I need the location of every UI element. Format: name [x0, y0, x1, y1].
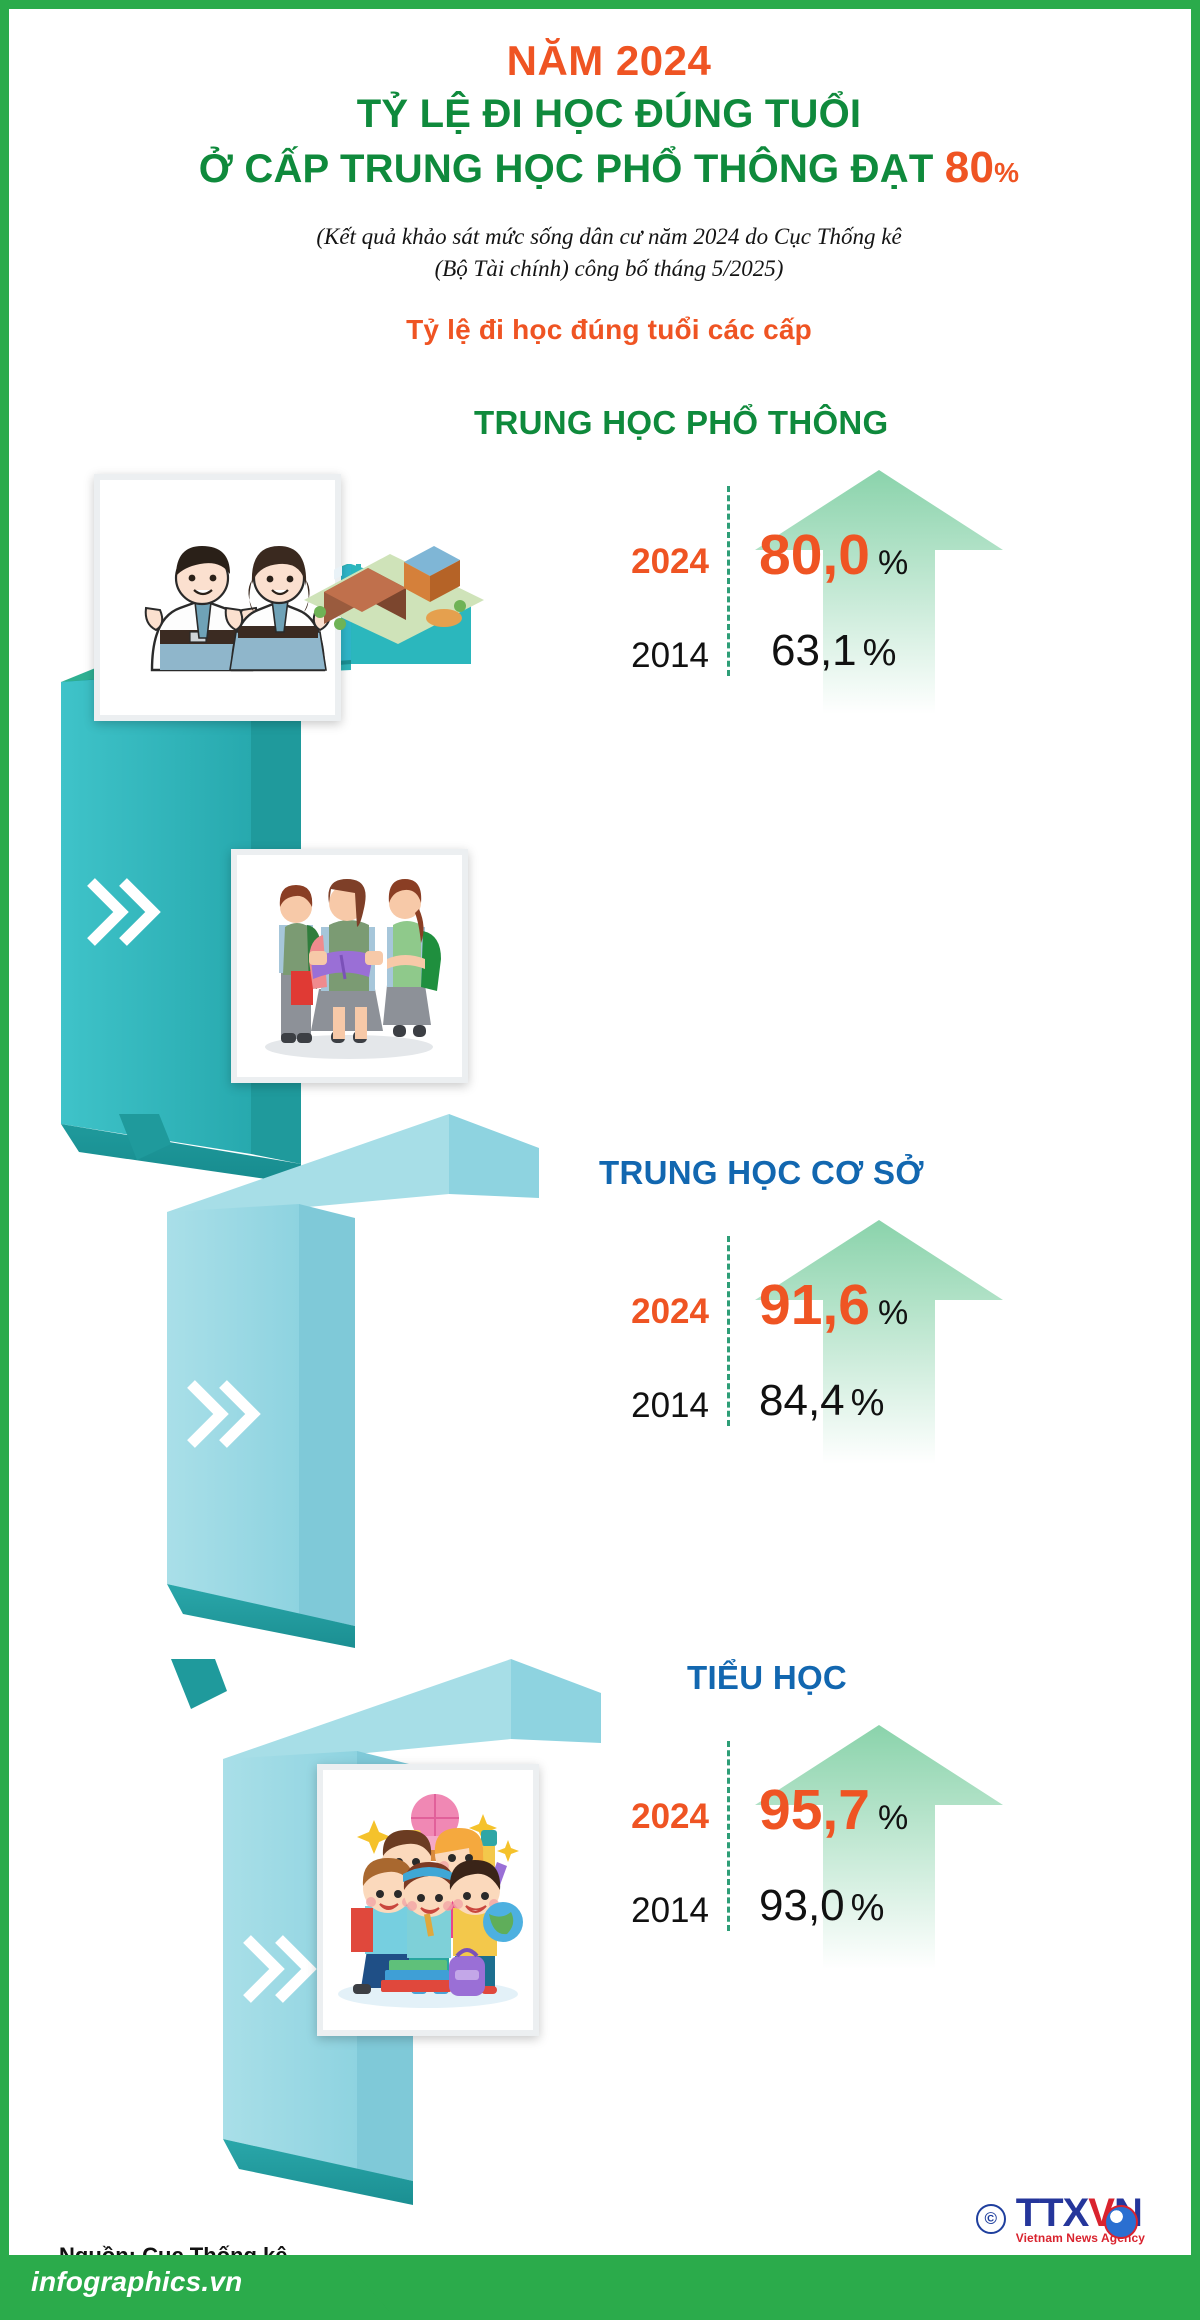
ttxvn-logo: © TTXVN Vietnam News Agency — [976, 2193, 1145, 2245]
ribbon-3-top-right — [511, 1659, 601, 1743]
stat-value-2014-number-primary-school: 93,0 — [759, 1881, 845, 1930]
header-title-line1: TỶ LỆ ĐI HỌC ĐÚNG TUỔI — [9, 90, 1200, 139]
header-year: NĂM 2024 — [9, 37, 1200, 84]
stat-unit-2024-high-school: % — [878, 544, 908, 582]
stat-unit-2014-primary-school: % — [851, 1887, 885, 1929]
stat-value-2014-number-high-school: 63,1 — [771, 626, 857, 675]
secondary-school-students-photo — [231, 849, 468, 1083]
header-title-line2-text: Ở CẤP TRUNG HỌC PHỔ THÔNG ĐẠT — [199, 147, 945, 191]
stat-year-2024-secondary-school: 2024 — [559, 1292, 709, 1332]
group-label-high-school: TRUNG HỌC PHỔ THÔNG — [474, 404, 889, 442]
stat-value-2014-number-secondary-school: 84,4 — [759, 1376, 845, 1425]
ribbon-2-body-shadow — [299, 1204, 355, 1626]
stat-value-2014-primary-school: 93,0% — [759, 1881, 884, 1931]
header-highlight-value: 80 — [945, 143, 994, 192]
stat-value-2024-high-school: 80,0% — [759, 522, 908, 588]
header-subtitle-line1: (Kết quả khảo sát mức sống dân cư năm 20… — [9, 221, 1200, 254]
stat-divider-1 — [727, 486, 730, 676]
stat-value-2024-number-high-school: 80,0 — [759, 523, 870, 587]
stat-value-2024-primary-school: 95,7% — [759, 1777, 908, 1843]
ribbon-2-top-right — [449, 1114, 539, 1198]
stat-year-2014-secondary-school: 2014 — [559, 1386, 709, 1426]
primary-school-students-illustration — [323, 1770, 533, 2030]
stat-year-2014-primary-school: 2014 — [559, 1891, 709, 1931]
secondary-school-students-illustration — [237, 855, 462, 1077]
header-subtitle: (Kết quả khảo sát mức sống dân cư năm 20… — [9, 221, 1200, 286]
up-arrow-icon — [749, 1719, 1009, 1969]
stat-block-secondary-school: 2024 91,6% 2014 84,4% — [609, 1214, 1169, 1464]
header-subtitle-line2: (Bộ Tài chính) công bố tháng 5/2025) — [9, 253, 1200, 286]
group-label-primary-school: TIỂU HỌC — [687, 1659, 847, 1697]
ribbon-2-svg — [119, 1114, 539, 1674]
ttxvn-ttx: TTX — [1016, 2191, 1089, 2235]
copyright-icon: © — [976, 2204, 1006, 2234]
stat-year-2014-high-school: 2014 — [559, 636, 709, 676]
stat-unit-2024-secondary-school: % — [878, 1294, 908, 1332]
stat-block-high-school: 2024 80,0% 2014 63,1% — [609, 464, 1169, 714]
infographic-page: NĂM 2024 TỶ LỆ ĐI HỌC ĐÚNG TUỔI Ở CẤP TR… — [0, 0, 1200, 2320]
stat-unit-2014-secondary-school: % — [851, 1382, 885, 1424]
header-highlight-unit: % — [994, 157, 1019, 188]
stat-block-primary-school: 2024 95,7% 2014 93,0% — [609, 1719, 1169, 1969]
ribbon-3-corner — [171, 1659, 227, 1709]
footer-site-badge[interactable]: infographics.vn — [9, 2255, 339, 2311]
ribbon-band-2 — [119, 1114, 539, 1674]
stat-value-2024-number-primary-school: 95,7 — [759, 1778, 870, 1842]
group-label-secondary-school: TRUNG HỌC CƠ SỞ — [599, 1154, 924, 1192]
ribbon-3-top — [223, 1659, 511, 1767]
stat-divider-3 — [727, 1741, 730, 1931]
infographic-canvas: NĂM 2024 TỶ LỆ ĐI HỌC ĐÚNG TUỔI Ở CẤP TR… — [9, 9, 1191, 2311]
stat-divider-2 — [727, 1236, 730, 1426]
stat-year-2024-high-school: 2024 — [559, 542, 709, 582]
school-building-icon — [294, 514, 494, 644]
stat-value-2014-high-school: 63,1% — [771, 626, 896, 676]
ribbon-2-corner — [119, 1114, 171, 1160]
books-stack — [381, 1960, 451, 1992]
stat-unit-2014-high-school: % — [863, 632, 897, 674]
stat-value-2014-secondary-school: 84,4% — [759, 1376, 884, 1426]
up-arrow-icon — [749, 1214, 1009, 1464]
ttxvn-wordmark: TTXVN Vietnam News Agency — [1016, 2193, 1145, 2245]
header: NĂM 2024 TỶ LỆ ĐI HỌC ĐÚNG TUỔI Ở CẤP TR… — [9, 37, 1200, 346]
ribbon-2-body — [167, 1204, 299, 1614]
stat-unit-2024-primary-school: % — [878, 1799, 908, 1837]
ribbon-2-top — [167, 1114, 449, 1220]
stat-value-2024-number-secondary-school: 91,6 — [759, 1273, 870, 1337]
footer-site-label[interactable]: infographics.vn — [31, 2266, 242, 2298]
globe-icon — [1104, 2205, 1138, 2239]
section-title: Tỷ lệ đi học đúng tuổi các cấp — [9, 314, 1200, 346]
stat-value-2024-secondary-school: 91,6% — [759, 1272, 908, 1338]
up-arrow-icon — [749, 464, 1009, 714]
stat-year-2024-primary-school: 2024 — [559, 1797, 709, 1837]
header-title-line2: Ở CẤP TRUNG HỌC PHỔ THÔNG ĐẠT 80% — [9, 141, 1200, 195]
primary-school-students-photo — [317, 1764, 539, 2036]
